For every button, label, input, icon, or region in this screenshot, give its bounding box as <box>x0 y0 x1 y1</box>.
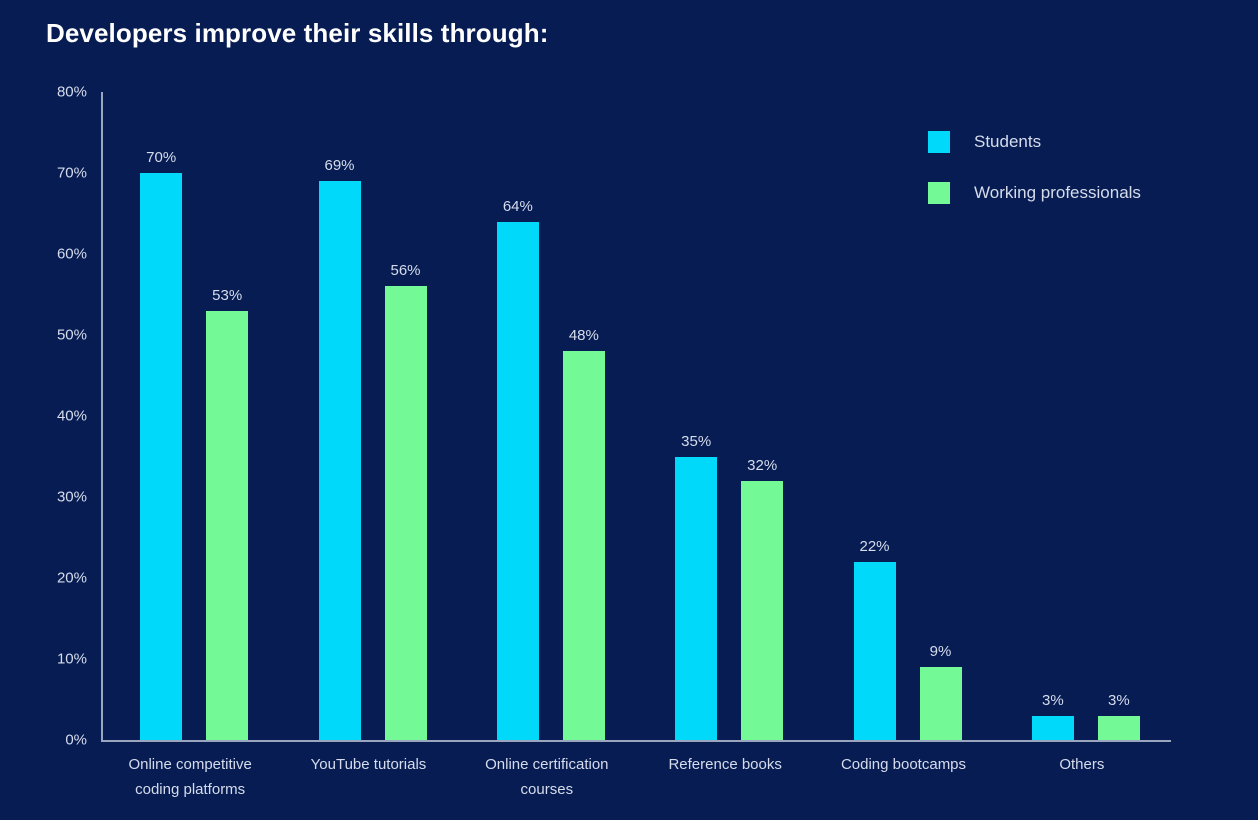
bar-working-professionals[interactable]: 53% <box>206 311 248 740</box>
legend-label: Working professionals <box>974 183 1141 203</box>
bar-value-label: 56% <box>390 262 420 279</box>
bar-group: 64%48% <box>497 92 605 740</box>
bar-group: 70%53% <box>140 92 248 740</box>
y-axis-tick: 80% <box>57 84 87 101</box>
bar-value-label: 22% <box>859 538 889 555</box>
chart-title: Developers improve their skills through: <box>46 18 548 49</box>
bar-students[interactable]: 69% <box>319 181 361 740</box>
x-axis-category-label: Reference books <box>636 752 814 777</box>
legend-swatch-students <box>928 131 950 153</box>
bar-value-label: 70% <box>146 149 176 166</box>
legend-label: Students <box>974 132 1041 152</box>
bar-students[interactable]: 3% <box>1032 716 1074 740</box>
bar-value-label: 48% <box>569 327 599 344</box>
y-axis-tick: 40% <box>57 408 87 425</box>
bar-chart: Developers improve their skills through:… <box>0 0 1258 820</box>
bar-students[interactable]: 22% <box>854 562 896 740</box>
y-axis-tick: 70% <box>57 165 87 182</box>
y-axis-tick: 20% <box>57 570 87 587</box>
y-axis-tick: 30% <box>57 489 87 506</box>
x-axis-category-label: Others <box>993 752 1171 777</box>
legend-swatch-working-professionals <box>928 182 950 204</box>
x-axis-category-labels: Online competitive coding platformsYouTu… <box>101 752 1171 814</box>
bar-value-label: 69% <box>324 157 354 174</box>
bar-value-label: 3% <box>1042 692 1064 709</box>
bar-value-label: 35% <box>681 433 711 450</box>
bar-value-label: 32% <box>747 457 777 474</box>
bar-working-professionals[interactable]: 9% <box>920 667 962 740</box>
bar-working-professionals[interactable]: 56% <box>385 286 427 740</box>
y-axis-tick-labels: 0%10%20%30%40%50%60%70%80% <box>0 92 101 740</box>
legend-item[interactable]: Working professionals <box>928 182 1228 204</box>
x-axis-line <box>101 740 1171 742</box>
bar-working-professionals[interactable]: 32% <box>741 481 783 740</box>
bar-value-label: 53% <box>212 287 242 304</box>
y-axis-tick: 60% <box>57 246 87 263</box>
bar-students[interactable]: 64% <box>497 222 539 740</box>
x-axis-category-label: YouTube tutorials <box>279 752 457 777</box>
bar-group: 35%32% <box>675 92 783 740</box>
bar-students[interactable]: 35% <box>675 457 717 741</box>
chart-legend: StudentsWorking professionals <box>928 131 1228 233</box>
y-axis-tick: 10% <box>57 651 87 668</box>
x-axis-category-label: Coding bootcamps <box>814 752 992 777</box>
y-axis-tick: 50% <box>57 327 87 344</box>
bar-working-professionals[interactable]: 48% <box>563 351 605 740</box>
x-axis-category-label: Online competitive coding platforms <box>101 752 279 802</box>
y-axis-tick: 0% <box>65 732 87 749</box>
bar-students[interactable]: 70% <box>140 173 182 740</box>
bar-working-professionals[interactable]: 3% <box>1098 716 1140 740</box>
bar-value-label: 9% <box>930 643 952 660</box>
x-axis-category-label: Online certification courses <box>458 752 636 802</box>
bar-value-label: 3% <box>1108 692 1130 709</box>
bar-value-label: 64% <box>503 198 533 215</box>
legend-item[interactable]: Students <box>928 131 1228 153</box>
y-axis-line <box>101 92 103 740</box>
bar-group: 69%56% <box>319 92 427 740</box>
